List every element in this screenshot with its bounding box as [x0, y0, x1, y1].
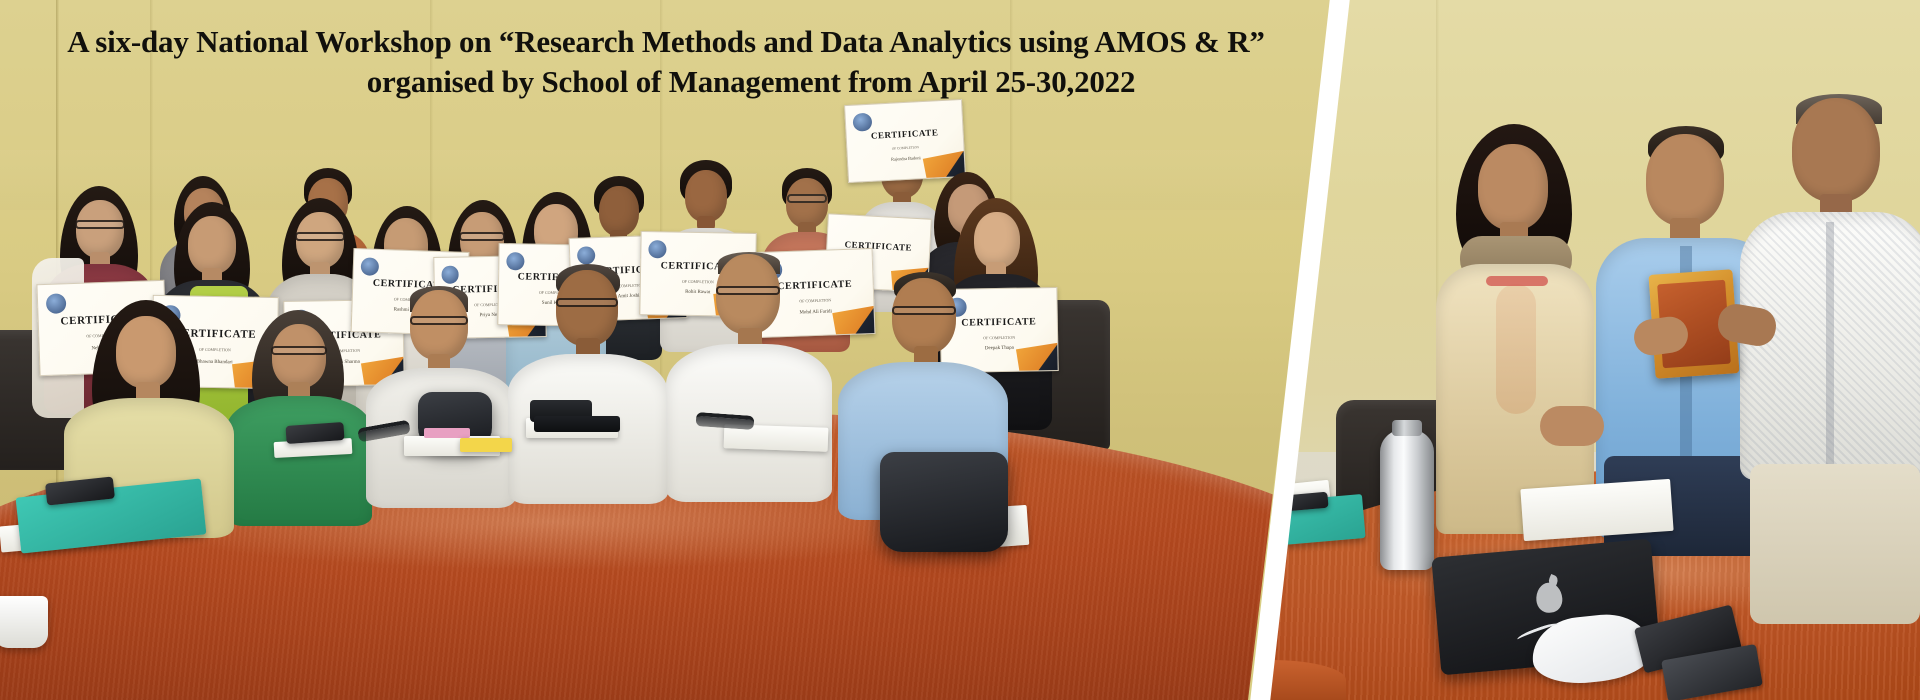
eyeglasses [787, 194, 827, 203]
face [410, 290, 468, 360]
certificate-seal [441, 266, 459, 284]
apple-logo-icon [1535, 581, 1564, 613]
group-photo-left: CERTIFICATE OF COMPLETION Rajendra Badon… [0, 0, 1345, 700]
eyeglasses [459, 232, 505, 241]
kurta-embroidery [1486, 276, 1548, 286]
eyeglasses [75, 220, 125, 229]
participant-seated [226, 310, 372, 520]
eyeglasses [410, 316, 468, 325]
eyeglasses [295, 232, 345, 241]
face [1792, 98, 1880, 202]
eyeglasses [556, 298, 618, 307]
torso [226, 396, 372, 526]
participant-seated [666, 252, 832, 502]
face [188, 216, 236, 274]
memento-photo-right [1240, 0, 1920, 700]
face [974, 212, 1020, 268]
face [116, 316, 176, 388]
participant [1430, 124, 1600, 544]
trousers [1750, 464, 1920, 624]
eyeglasses [271, 346, 327, 355]
participant [1740, 94, 1920, 594]
kurta-placket [1496, 284, 1536, 414]
shirt-placket [1826, 222, 1834, 472]
face [892, 278, 956, 354]
face [76, 200, 124, 258]
certificate: CERTIFICATE OF COMPLETION Rajendra Badon… [844, 99, 966, 183]
certificate-seal [577, 246, 596, 265]
eyeglasses [716, 286, 780, 295]
certificate-seal [648, 240, 667, 259]
face [1646, 134, 1724, 226]
face [1478, 144, 1548, 230]
face [272, 324, 326, 388]
sticky-notes [424, 428, 470, 438]
certificate-subtitle: OF COMPLETION [847, 143, 963, 153]
laptop-bag [880, 452, 1008, 552]
workshop-banner: CERTIFICATE OF COMPLETION Rajendra Badon… [0, 0, 1920, 700]
face [786, 178, 828, 228]
certificate-seal [360, 257, 379, 276]
hand [1540, 406, 1604, 446]
notebook [534, 416, 620, 432]
certificate-seal [852, 112, 871, 131]
bottle-cap [1392, 420, 1422, 436]
eyeglasses [892, 306, 956, 315]
sticky-notes [460, 438, 512, 452]
coffee-cup [0, 596, 48, 648]
face [685, 170, 727, 222]
participant-seated [508, 264, 668, 504]
documents [1520, 479, 1673, 541]
face [556, 270, 618, 346]
steel-water-bottle [1380, 430, 1434, 570]
